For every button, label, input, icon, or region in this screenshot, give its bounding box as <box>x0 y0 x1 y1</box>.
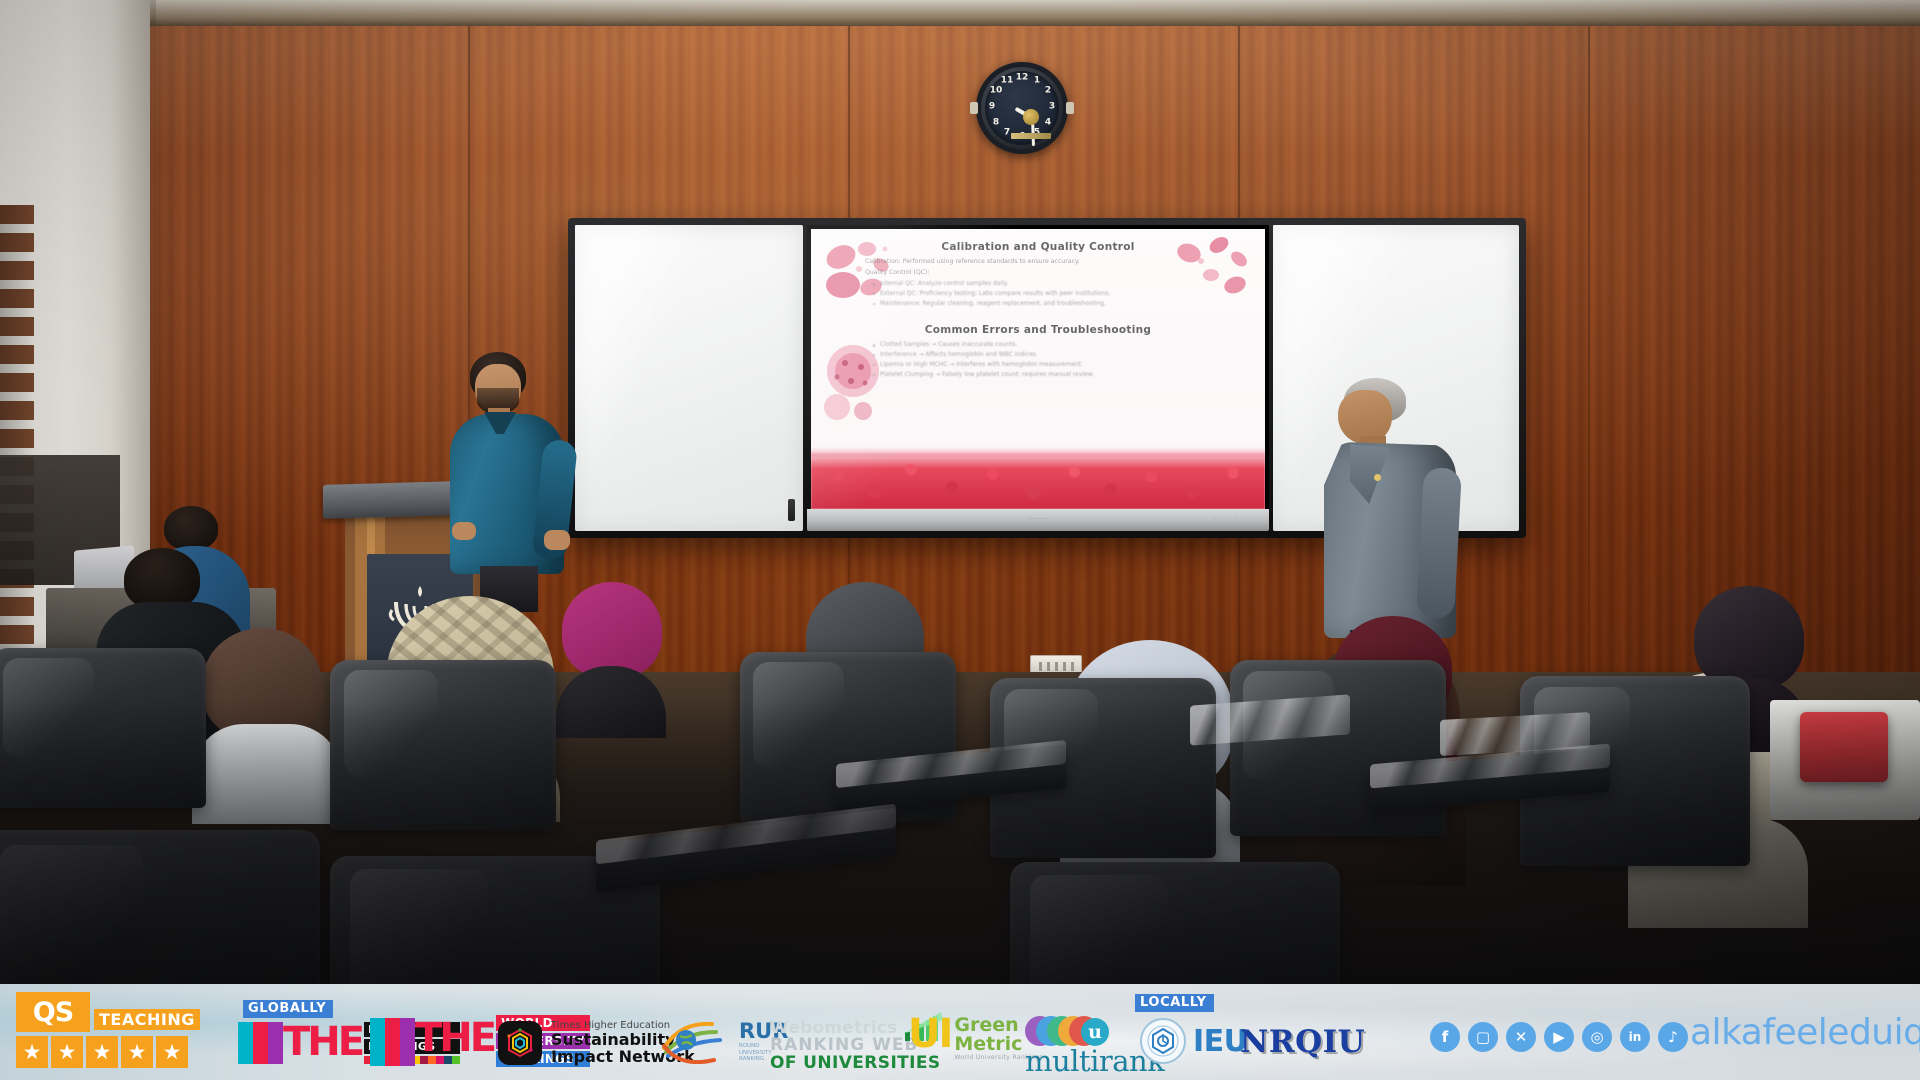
clock-brand-plate <box>1011 133 1051 139</box>
presentation-slide: Calibration and Quality Control Calibrat… <box>811 229 1265 509</box>
hijab <box>1694 586 1804 690</box>
rankings-banner: QS TEACHING ★ ★ ★ ★ ★ GLOBALLY <box>0 984 1920 1080</box>
list-item: Lipemia or High MCHC → Interferes with h… <box>873 360 1211 370</box>
social-icons: f ▢ ✕ ▶ ◎ in ♪ <box>1430 1022 1688 1052</box>
faculty-lapel-pin <box>1374 474 1381 481</box>
interactive-display[interactable]: Calibration and Quality Control Calibrat… <box>807 225 1269 531</box>
list-item: Platelet Clumping → Falsely low platelet… <box>873 370 1211 380</box>
youtube-icon[interactable]: ▶ <box>1544 1022 1574 1052</box>
list-item: External QC: Proficiency testing; Labs c… <box>873 289 1211 299</box>
the-letters: THE <box>415 1018 494 1066</box>
dribbble-icon[interactable]: ◎ <box>1582 1022 1612 1052</box>
clock-center-cap <box>1023 109 1039 125</box>
facebook-icon[interactable]: f <box>1430 1022 1460 1052</box>
linkedin-icon[interactable]: in <box>1620 1022 1650 1052</box>
display-bezel-bottom: ········ · · · · · · <box>807 509 1269 531</box>
star-icon: ★ <box>156 1036 188 1068</box>
globe-eye-icon <box>660 1018 734 1064</box>
display-brand-label: ········ <box>1027 516 1048 522</box>
wall-top-trim <box>148 0 1920 26</box>
display-port-label: · · · · · · <box>1214 516 1253 522</box>
locally-tag: LOCALLY <box>1135 994 1214 1012</box>
slide-heading-2: Common Errors and Troubleshooting <box>865 324 1211 336</box>
ieu-seal-icon <box>1140 1018 1186 1064</box>
whiteboard-left <box>575 225 803 531</box>
slide-lead-2: Quality Control (QC): <box>865 268 1211 278</box>
greenmetric-ui: UI <box>908 1016 951 1052</box>
screenshot-root: 12 1 2 3 4 5 6 7 8 9 10 11 <box>0 0 1920 1080</box>
nrqiu-logo: NRQIU <box>1240 1024 1365 1060</box>
the-letters: THE <box>283 1022 362 1064</box>
presenter-right-hand <box>544 530 570 550</box>
hair <box>164 506 218 550</box>
list-item: Interference → Affects hemoglobin and WB… <box>873 350 1211 360</box>
qs-logo: QS <box>16 992 90 1032</box>
hair <box>124 548 200 610</box>
the-wordmark: THE <box>238 1022 362 1064</box>
qs-logo-text: QS <box>33 997 73 1028</box>
x-twitter-icon[interactable]: ✕ <box>1506 1022 1536 1052</box>
whiteboard-marker <box>788 499 795 521</box>
list-item: Maintenance: Regular cleaning, reagent r… <box>873 299 1211 309</box>
qs-star-rating: ★ ★ ★ ★ ★ <box>16 1036 188 1068</box>
slide-heading-1: Calibration and Quality Control <box>865 241 1211 253</box>
list-item: Internal QC: Analyze control samples dai… <box>873 279 1211 289</box>
lecture-hall-scene: 12 1 2 3 4 5 6 7 8 9 10 11 <box>0 0 1920 1080</box>
presenter-left-hand <box>452 522 476 540</box>
ui-greenmetric-logo: UI Green Metric World University Ranking… <box>908 1016 1043 1061</box>
social-handle[interactable]: alkafeeleduiq <box>1690 1012 1920 1053</box>
clock-face: 12 1 2 3 4 5 6 7 8 9 10 11 <box>985 71 1059 145</box>
hijab <box>562 582 662 678</box>
tiktok-icon[interactable]: ♪ <box>1658 1022 1688 1052</box>
slide-bullets-1: Internal QC: Analyze control samples dai… <box>873 279 1211 308</box>
multirank-u-mark: u <box>1081 1018 1109 1046</box>
wall-clock: 12 1 2 3 4 5 6 7 8 9 10 11 <box>976 62 1068 154</box>
ieu-logo: IEU <box>1140 1018 1248 1064</box>
list-item: Clotted Samples → Causes inaccurate coun… <box>873 340 1211 350</box>
the-wordmark: THE <box>370 1018 494 1066</box>
multirank-dots: u <box>1025 1016 1125 1046</box>
faculty-arm <box>1416 467 1462 619</box>
star-icon: ★ <box>51 1036 83 1068</box>
qs-rating-block: QS TEACHING ★ ★ ★ ★ ★ <box>16 992 196 1072</box>
globally-tag: GLOBALLY <box>243 1000 333 1018</box>
slide-bullets-2: Clotted Samples → Causes inaccurate coun… <box>873 340 1211 379</box>
hex-network-icon <box>498 1021 542 1065</box>
star-icon: ★ <box>16 1036 48 1068</box>
slide-lead-1: Calibration: Performed using reference s… <box>865 257 1211 267</box>
qs-teaching-label: TEACHING <box>94 1009 200 1030</box>
instagram-icon[interactable]: ▢ <box>1468 1022 1498 1052</box>
star-icon: ★ <box>121 1036 153 1068</box>
presenter-at-podium <box>444 352 574 612</box>
blood-smear-band <box>811 453 1265 509</box>
star-icon: ★ <box>86 1036 118 1068</box>
